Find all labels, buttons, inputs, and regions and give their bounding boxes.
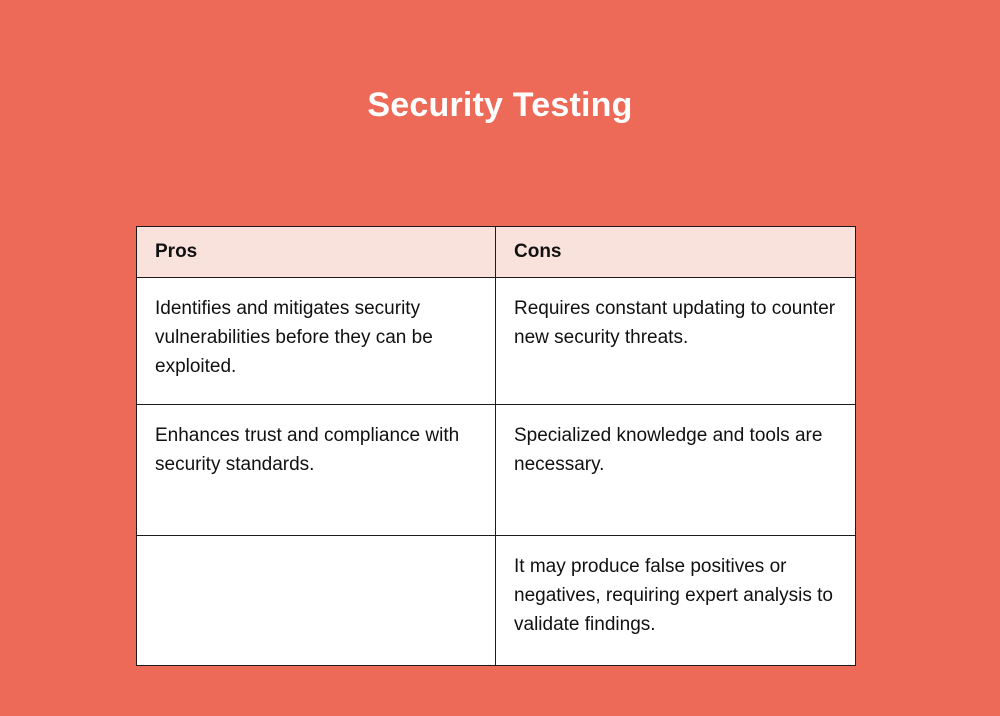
table-row: Enhances trust and compliance with secur… xyxy=(137,405,856,536)
cell-pros-3-empty xyxy=(137,536,496,666)
pros-cons-table: Pros Cons Identifies and mitigates secur… xyxy=(136,226,856,666)
table-row: It may produce false positives or negati… xyxy=(137,536,856,666)
slide-canvas: Security Testing Pros Cons Identifies an… xyxy=(0,0,1000,716)
table-row: Identifies and mitigates security vulner… xyxy=(137,278,856,405)
cell-cons-2: Specialized knowledge and tools are nece… xyxy=(496,405,856,536)
table-header-row: Pros Cons xyxy=(137,227,856,278)
pros-cons-table-container: Pros Cons Identifies and mitigates secur… xyxy=(136,226,855,666)
column-header-pros: Pros xyxy=(137,227,496,278)
table-header: Pros Cons xyxy=(137,227,856,278)
page-title: Security Testing xyxy=(0,83,1000,127)
cell-cons-3: It may produce false positives or negati… xyxy=(496,536,856,666)
column-header-cons: Cons xyxy=(496,227,856,278)
cell-pros-2: Enhances trust and compliance with secur… xyxy=(137,405,496,536)
cell-cons-1: Requires constant updating to counter ne… xyxy=(496,278,856,405)
table-body: Identifies and mitigates security vulner… xyxy=(137,278,856,666)
cell-pros-1: Identifies and mitigates security vulner… xyxy=(137,278,496,405)
